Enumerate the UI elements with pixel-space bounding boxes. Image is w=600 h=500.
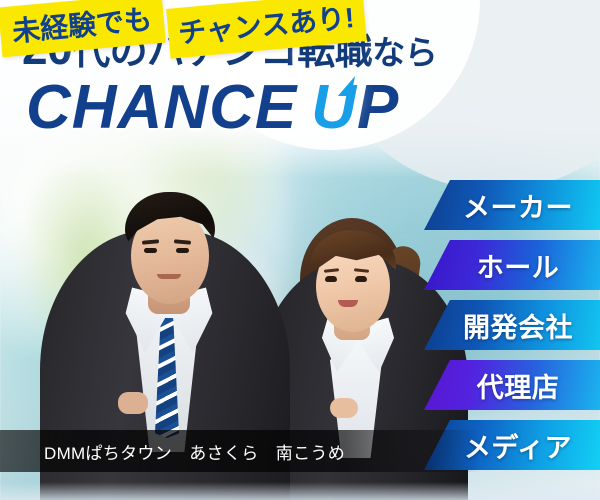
category-label: 開発会社 — [451, 306, 573, 345]
chance-up-logo: CHANCEUP — [26, 72, 399, 143]
businessman-hand — [118, 392, 148, 414]
badge-line-2: チャンスあり! — [167, 0, 367, 59]
credit-text: DMMぱちタウン あさくら 南こうめ — [0, 439, 345, 464]
category-label: 代理店 — [465, 366, 560, 405]
badge-line-1: 未経験でも — [0, 0, 166, 57]
logo-letter-u: U — [311, 72, 357, 143]
category-label: メーカー — [451, 186, 573, 225]
logo-word-chance: CHANCE — [26, 73, 297, 142]
businesswoman-eye-left — [325, 276, 337, 282]
category-label: ホール — [465, 246, 560, 285]
category-item-agency[interactable]: 代理店 — [424, 360, 600, 410]
businessman-eye-right — [176, 248, 189, 253]
businesswoman-hand — [330, 398, 358, 418]
pachinko-job-banner[interactable]: 20代のパチンコ転職なら CHANCEUP 未経験でも チャンスあり! メーカー… — [0, 0, 600, 500]
businesswoman-eye-right — [355, 276, 367, 282]
headline-suffix: なら — [372, 34, 437, 71]
businessman-eye-left — [144, 248, 157, 253]
experience-badge: 未経験でも チャンスあり! — [0, 0, 365, 50]
category-list: メーカー ホール 開発会社 代理店 メディア — [424, 180, 600, 470]
category-item-maker[interactable]: メーカー — [424, 180, 600, 230]
category-item-hall[interactable]: ホール — [424, 240, 600, 290]
category-item-development-company[interactable]: 開発会社 — [424, 300, 600, 350]
businessman-mouth — [157, 274, 181, 279]
logo-letter-p: P — [357, 73, 399, 142]
credit-band: DMMぱちタウン あさくら 南こうめ — [0, 430, 480, 472]
